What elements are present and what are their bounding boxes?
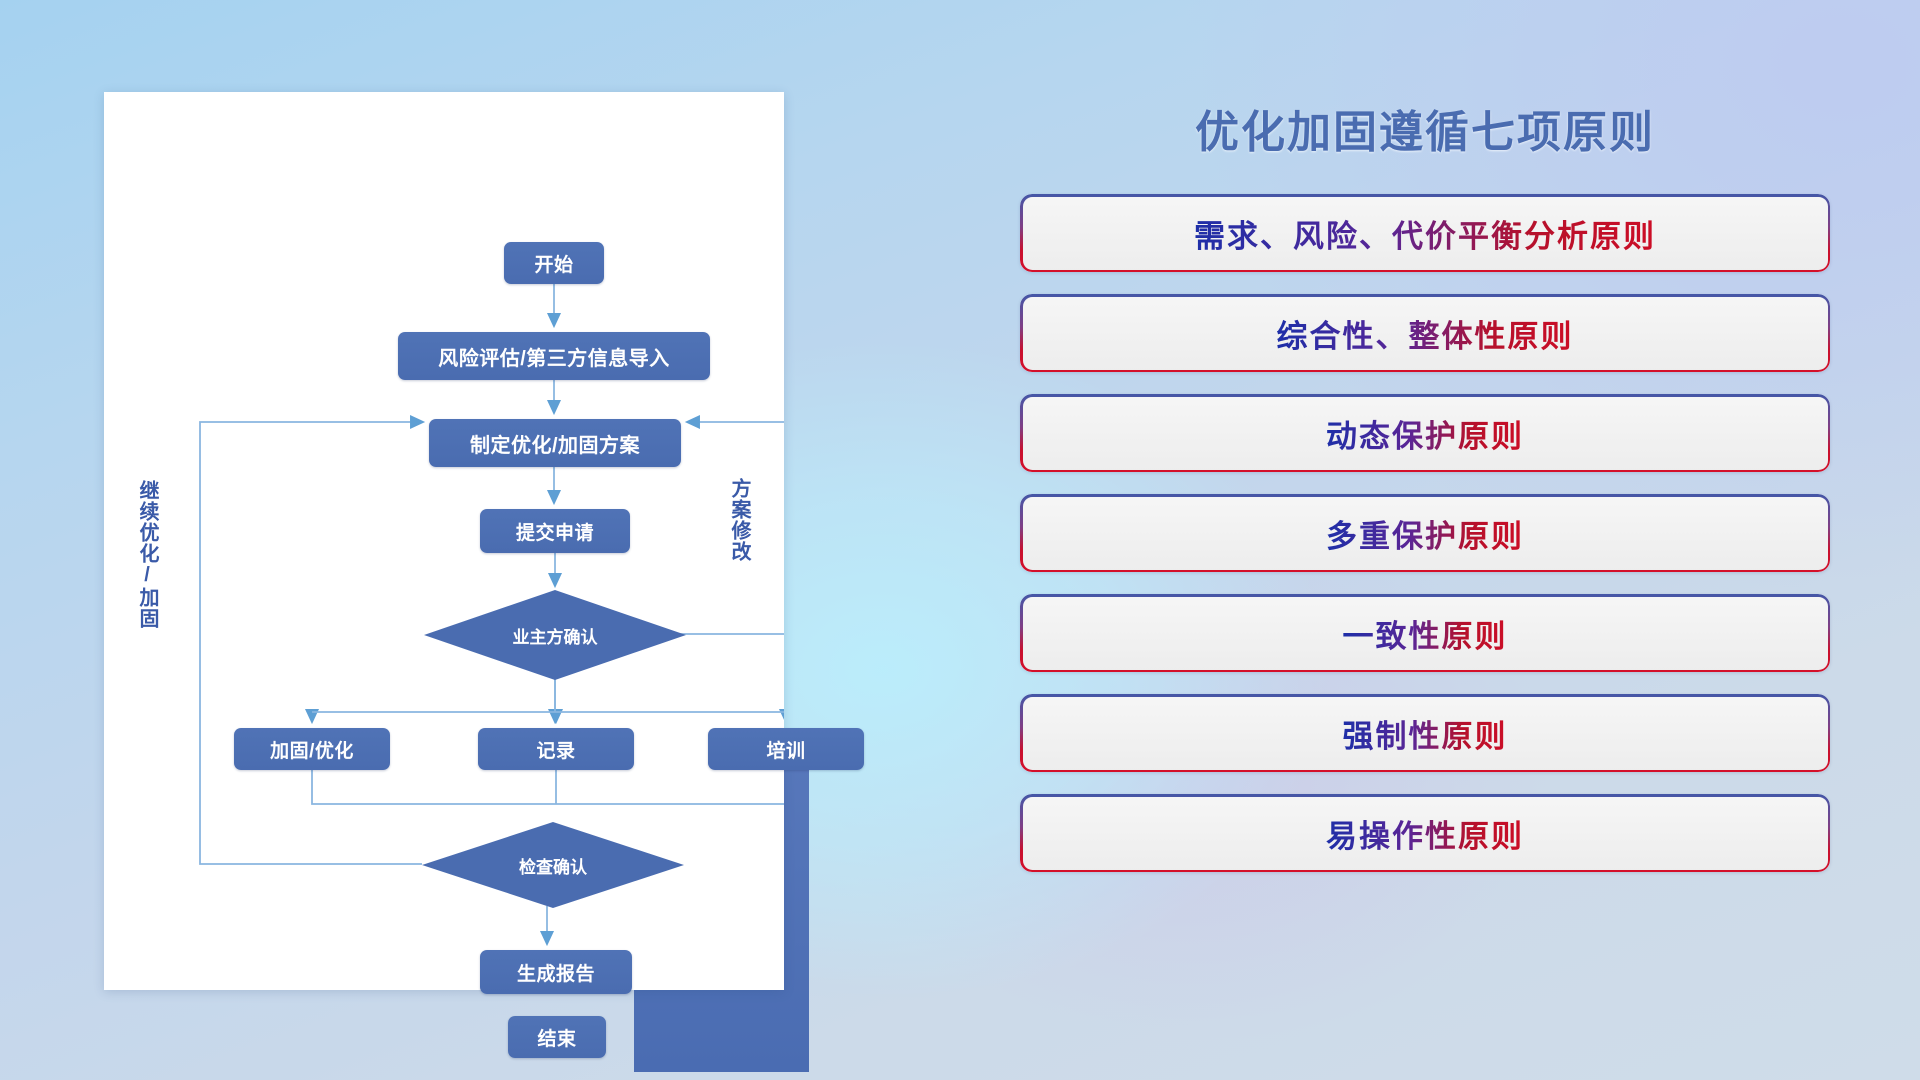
principle-item-7[interactable]: 易操作性原则	[1020, 794, 1830, 872]
flow-label-text: 方案修改	[728, 478, 750, 562]
principle-label: 易操作性原则	[1326, 811, 1524, 856]
flow-node-label: 风险评估/第三方信息导入	[438, 342, 670, 371]
flow-label-text: 继续优化/加固	[136, 480, 158, 629]
principle-label: 一致性原则	[1343, 611, 1508, 656]
flow-node-make-plan[interactable]: 制定优化/加固方案	[429, 419, 681, 467]
flow-node-label: 检查确认	[519, 853, 587, 878]
flow-label-plan-revision: 方案修改	[728, 478, 749, 562]
principle-label: 多重保护原则	[1326, 511, 1524, 556]
flow-node-start[interactable]: 开始	[504, 242, 604, 284]
flowchart-panel: 开始 风险评估/第三方信息导入 制定优化/加固方案 提交申请 业主方确认 加固/…	[104, 92, 794, 972]
principle-label: 强制性原则	[1343, 711, 1508, 756]
panel-title: 优化加固遵循七项原则	[1020, 96, 1830, 160]
flow-node-training[interactable]: 培训	[708, 728, 864, 770]
flow-node-label: 开始	[534, 250, 573, 277]
flow-node-generate-report[interactable]: 生成报告	[480, 950, 632, 994]
flow-node-submit-application[interactable]: 提交申请	[480, 509, 630, 553]
flow-node-label: 制定优化/加固方案	[470, 429, 640, 458]
flow-node-end[interactable]: 结束	[508, 1016, 606, 1058]
principle-item-1[interactable]: 需求、风险、代价平衡分析原则	[1020, 194, 1830, 272]
flowchart-card: 开始 风险评估/第三方信息导入 制定优化/加固方案 提交申请 业主方确认 加固/…	[104, 92, 784, 990]
flow-node-record[interactable]: 记录	[478, 728, 634, 770]
flow-node-label: 生成报告	[517, 959, 595, 986]
flow-node-label: 结束	[537, 1024, 576, 1051]
flow-node-label: 培训	[766, 736, 805, 763]
flow-node-label: 加固/优化	[270, 736, 354, 763]
principles-panel: 优化加固遵循七项原则 需求、风险、代价平衡分析原则 综合性、整体性原则 动态保护…	[1020, 96, 1830, 1016]
principle-item-3[interactable]: 动态保护原则	[1020, 394, 1830, 472]
principle-item-4[interactable]: 多重保护原则	[1020, 494, 1830, 572]
principle-label: 综合性、整体性原则	[1277, 311, 1574, 356]
flow-node-label: 业主方确认	[513, 623, 598, 648]
principle-item-2[interactable]: 综合性、整体性原则	[1020, 294, 1830, 372]
principle-label: 需求、风险、代价平衡分析原则	[1194, 211, 1656, 256]
flowchart-connectors	[104, 92, 784, 990]
principle-item-5[interactable]: 一致性原则	[1020, 594, 1830, 672]
flow-node-reinforce-optimize[interactable]: 加固/优化	[234, 728, 390, 770]
flow-node-label: 记录	[536, 736, 575, 763]
principle-item-6[interactable]: 强制性原则	[1020, 694, 1830, 772]
flow-label-continue-optimize: 继续优化/加固	[136, 480, 157, 629]
flow-node-label: 提交申请	[516, 518, 594, 545]
principle-label: 动态保护原则	[1326, 411, 1524, 456]
flow-node-risk-assessment[interactable]: 风险评估/第三方信息导入	[398, 332, 710, 380]
